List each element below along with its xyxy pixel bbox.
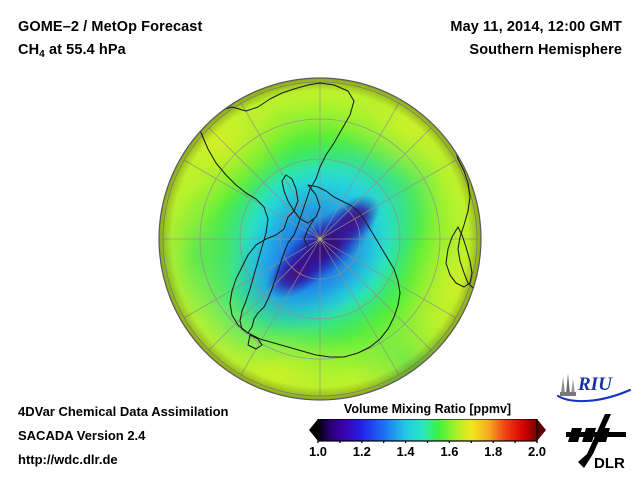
dlr-logo-svg: DLR bbox=[564, 412, 630, 472]
dlr-wordmark: DLR bbox=[594, 455, 625, 472]
method-label: 4DVar Chemical Data Assimilation bbox=[18, 404, 229, 419]
colorbar-title: Volume Mixing Ratio [ppmv] bbox=[305, 402, 550, 416]
species-prefix: CH bbox=[18, 42, 39, 58]
limb-shading bbox=[159, 78, 481, 400]
version-label: SACADA Version 2.4 bbox=[18, 428, 145, 443]
riu-tower-icon bbox=[560, 373, 576, 396]
colorbar-tick-label: 1.0 bbox=[309, 444, 327, 459]
url-label[interactable]: http://wdc.dlr.de bbox=[18, 452, 118, 467]
globe-svg bbox=[158, 77, 482, 401]
field-layer bbox=[158, 77, 482, 401]
datetime-label: May 11, 2014, 12:00 GMT bbox=[450, 19, 622, 35]
coast-madagascar bbox=[464, 305, 480, 333]
coast-new-zealand bbox=[406, 389, 420, 401]
colorbar-tick-label: 1.4 bbox=[397, 444, 415, 459]
colorbar-tick-labels: 1.01.21.41.61.82.0 bbox=[305, 444, 550, 464]
riu-logo: RIU bbox=[556, 370, 634, 404]
riu-wordmark: RIU bbox=[577, 374, 613, 395]
region-label: Southern Hemisphere bbox=[469, 42, 622, 58]
colorbar: Volume Mixing Ratio [ppmv] 1.01.21.41.61… bbox=[305, 402, 550, 472]
species-level-label: CH4 at 55.4 hPa bbox=[18, 42, 126, 58]
visualization-page: GOME–2 / MetOp Forecast CH4 at 55.4 hPa … bbox=[0, 0, 640, 480]
coast-australia bbox=[456, 359, 482, 399]
colorbar-tick-label: 1.8 bbox=[484, 444, 502, 459]
page-title: GOME–2 / MetOp Forecast bbox=[18, 19, 202, 35]
colorbar-tick-label: 1.6 bbox=[440, 444, 458, 459]
riu-logo-svg: RIU bbox=[556, 370, 634, 404]
species-subscript: 4 bbox=[39, 49, 45, 60]
species-suffix: at 55.4 hPa bbox=[45, 42, 126, 58]
colorbar-svg bbox=[305, 419, 550, 443]
polar-stereographic-map bbox=[158, 77, 482, 401]
colorbar-tick-label: 2.0 bbox=[528, 444, 546, 459]
colorbar-tick-label: 1.2 bbox=[353, 444, 371, 459]
colorbar-ramp bbox=[318, 419, 537, 441]
dlr-logo: DLR bbox=[564, 412, 630, 472]
